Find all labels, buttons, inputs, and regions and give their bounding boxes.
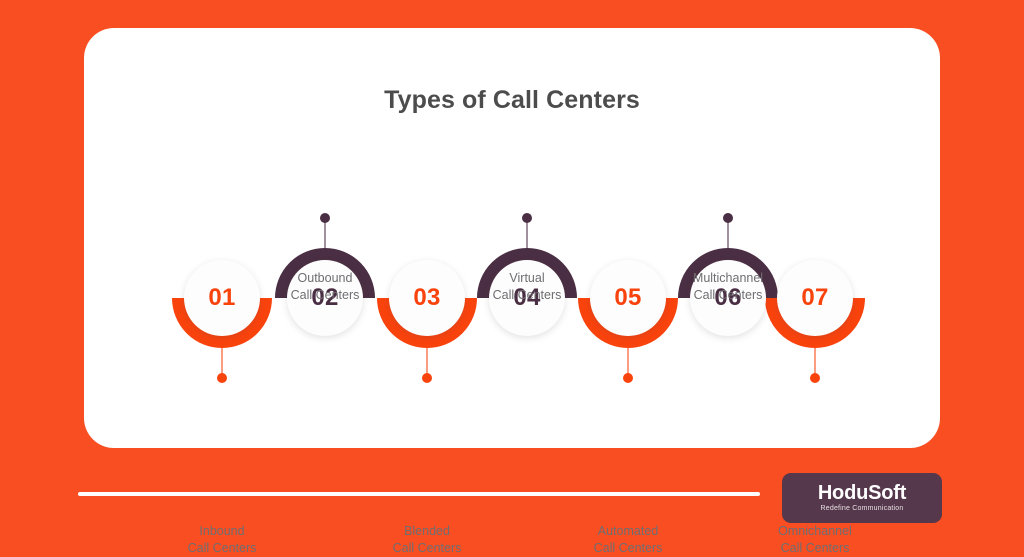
logo-wordmark: HoduSoft [818, 482, 906, 504]
connector-dot [217, 373, 227, 383]
timeline-label-01: Inbound Call Centers [127, 523, 317, 557]
connector-dot [320, 213, 330, 223]
page-title: Types of Call Centers [84, 86, 940, 115]
infographic-stage: Types of Call Centers 01020304050607 Inb… [0, 0, 1024, 538]
connector-dot [810, 373, 820, 383]
connector-dot [723, 213, 733, 223]
footer-divider [78, 492, 760, 496]
content-card: Types of Call Centers 01020304050607 Inb… [84, 28, 940, 448]
timeline-label-05: Automated Call Centers [533, 523, 723, 557]
hodusoft-logo: HoduSoft Redefine Communication [782, 473, 942, 523]
connector-dot [522, 213, 532, 223]
timeline-label-02: Outbound Call Centers [230, 270, 420, 304]
timeline-label-07: Omnichannel Call Centers [720, 523, 910, 557]
timeline-label-03: Blended Call Centers [332, 523, 522, 557]
logo-tagline: Redefine Communication [821, 504, 904, 514]
timeline-label-04: Virtual Call Centers [432, 270, 622, 304]
connector-dot [623, 373, 633, 383]
connector-dot [422, 373, 432, 383]
timeline-label-06: Multichannel Call Centers [633, 270, 823, 304]
